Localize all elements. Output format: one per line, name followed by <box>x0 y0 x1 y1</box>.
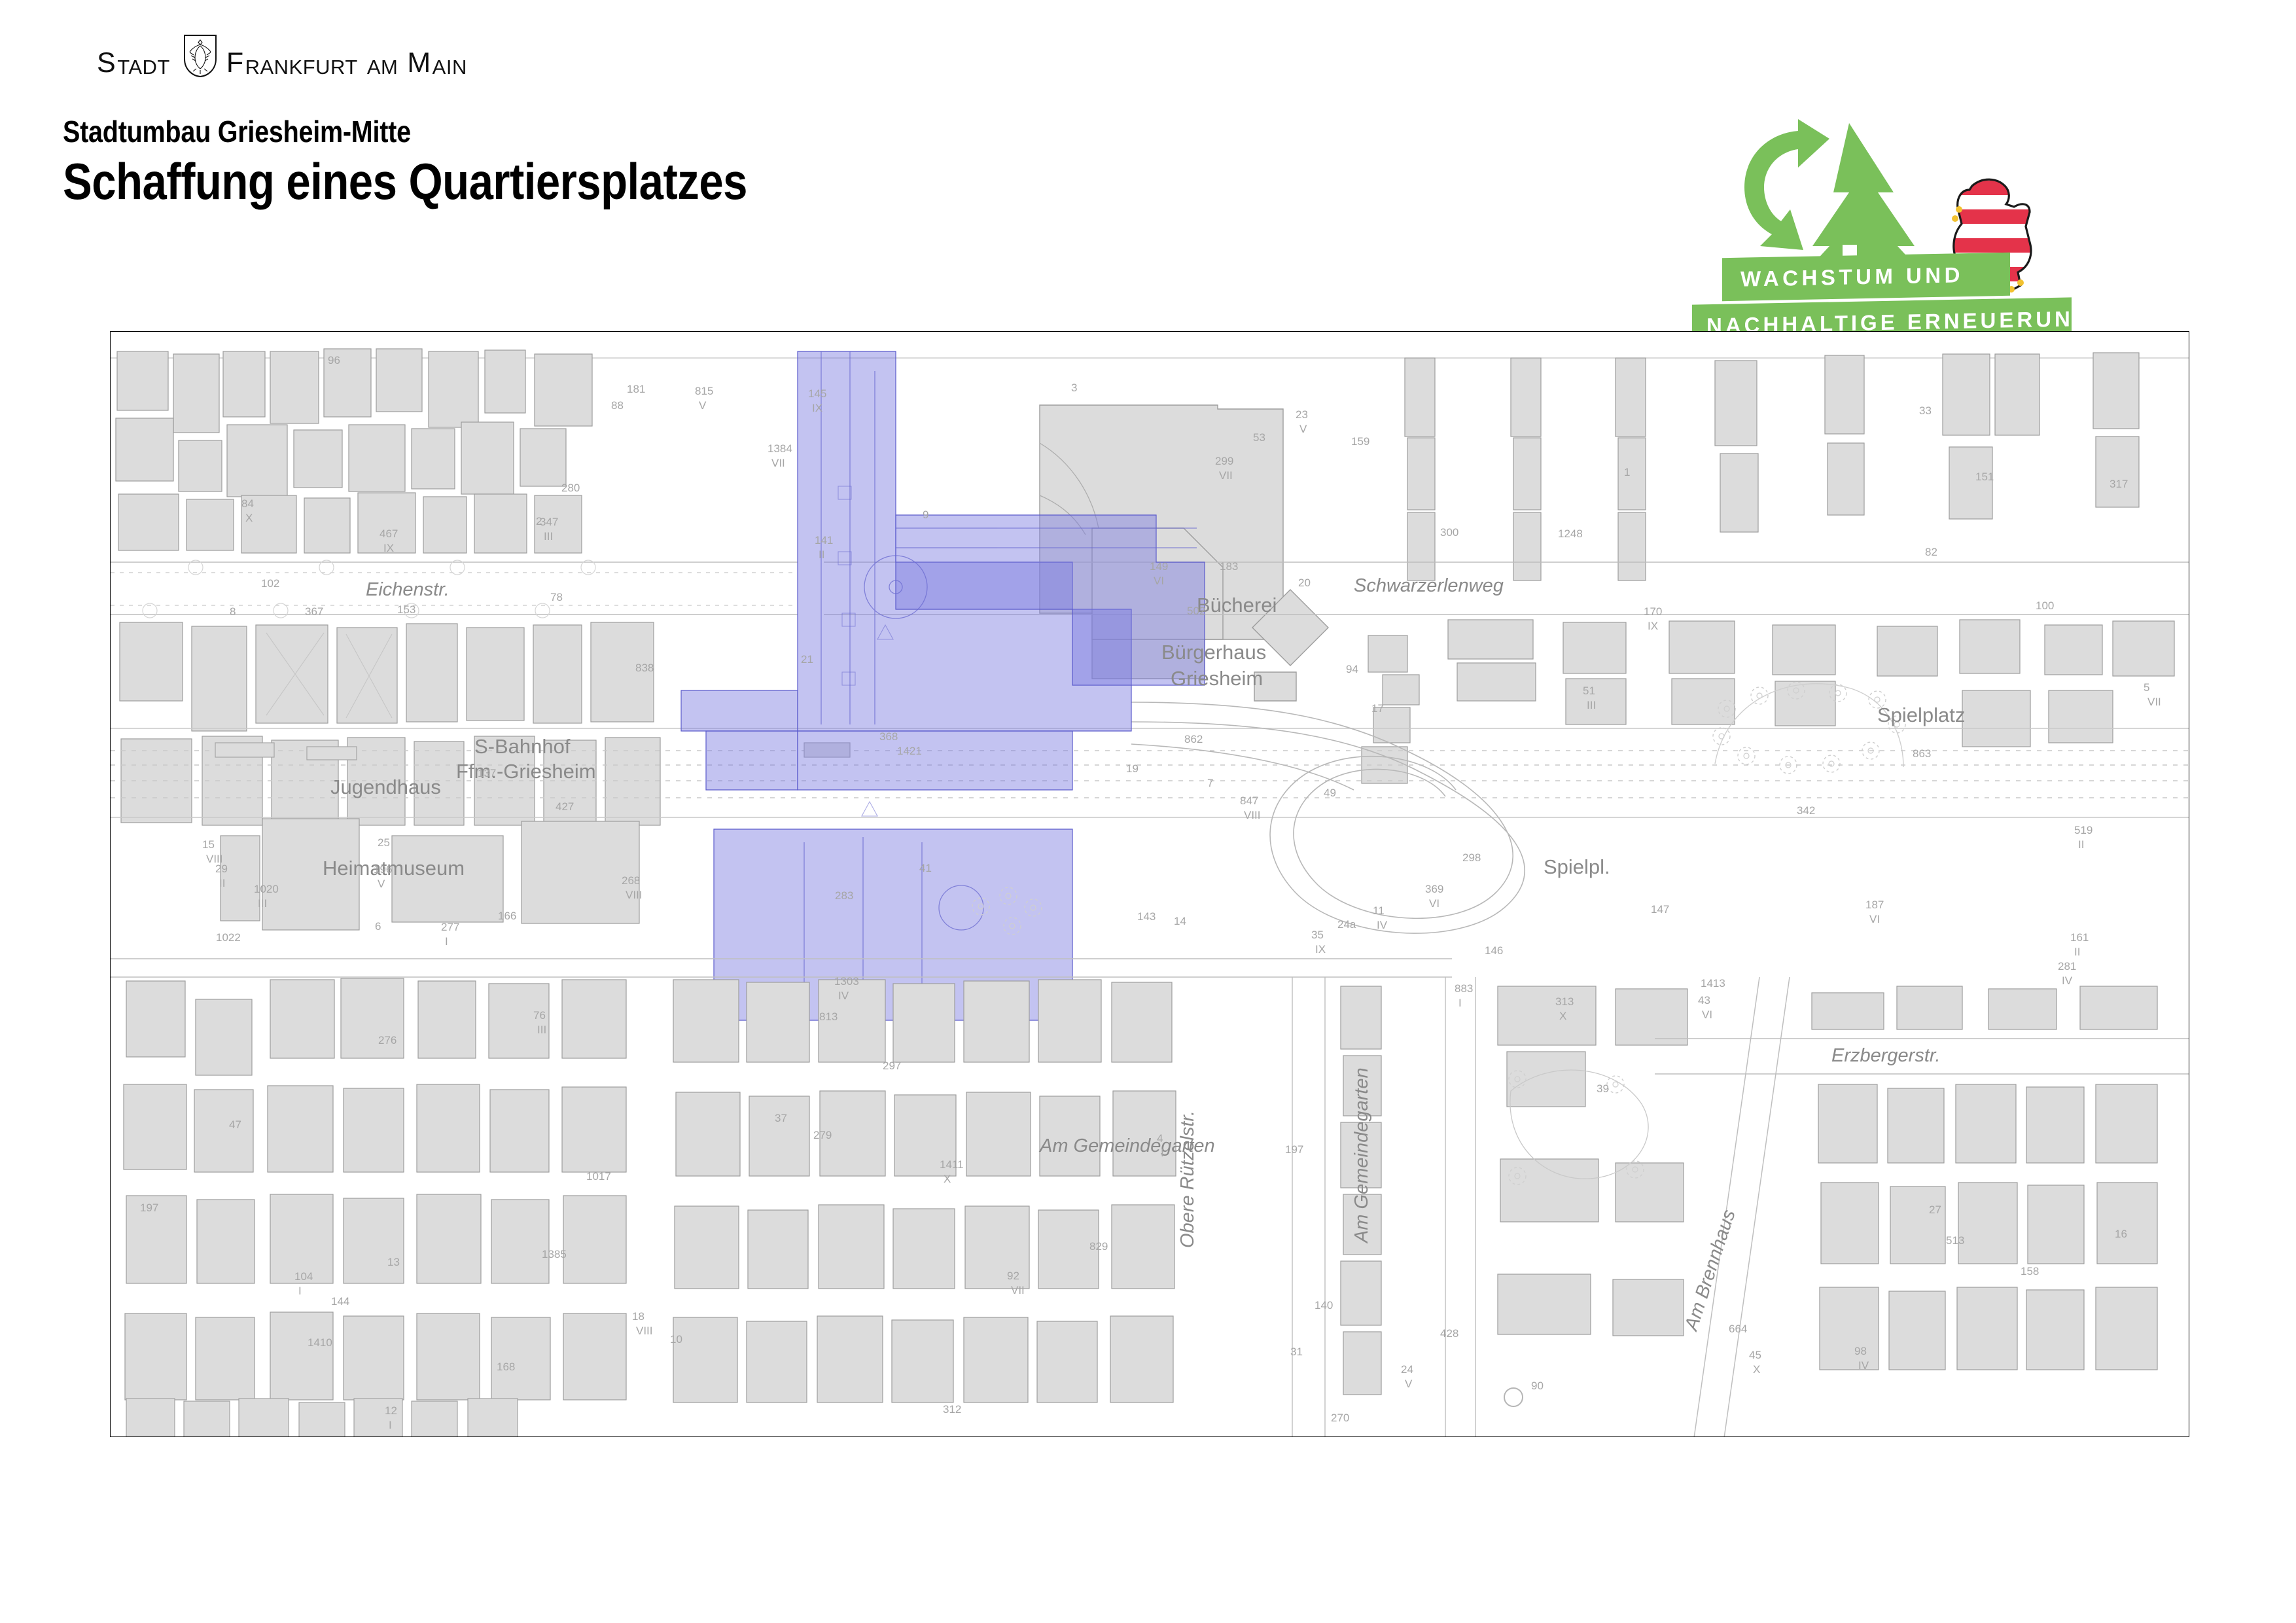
city-of-frankfurt-logo: S TADT F RANKFURT AM M AIN <box>97 31 467 77</box>
footer-logo-bar: Bundesministerium für Wohnen, Stadtentwi… <box>0 1478 2296 1609</box>
city-logo-main-m: M <box>407 49 431 77</box>
site-plan-map[interactable]: Eichenstr. Schwarzerlenweg Erzbergerstr.… <box>110 331 2189 1437</box>
city-logo-am: AM <box>367 57 398 77</box>
frankfurt-eagle-shield-icon <box>183 34 217 77</box>
title-block: Stadtumbau Griesheim-Mitte Schaffung ein… <box>63 115 858 211</box>
city-logo-frankfurt-rest: RANKFURT <box>245 57 358 77</box>
city-logo-frankfurt-f: F <box>226 49 244 77</box>
page-title: Schaffung eines Quartiersplatzes <box>63 152 747 211</box>
poster-page: S TADT F RANKFURT AM M AIN Stadtumbau Gr… <box>0 0 2296 1623</box>
city-logo-stadt-rest: TADT <box>117 57 170 77</box>
city-logo-main-rest: AIN <box>433 57 467 77</box>
program-band-wachstum-und: WACHSTUM UND <box>1722 253 2010 301</box>
page-subtitle: Stadtumbau Griesheim-Mitte <box>63 115 747 149</box>
cadastral-map-drawing <box>111 332 2189 1437</box>
city-logo-stadt-s: S <box>97 49 116 77</box>
